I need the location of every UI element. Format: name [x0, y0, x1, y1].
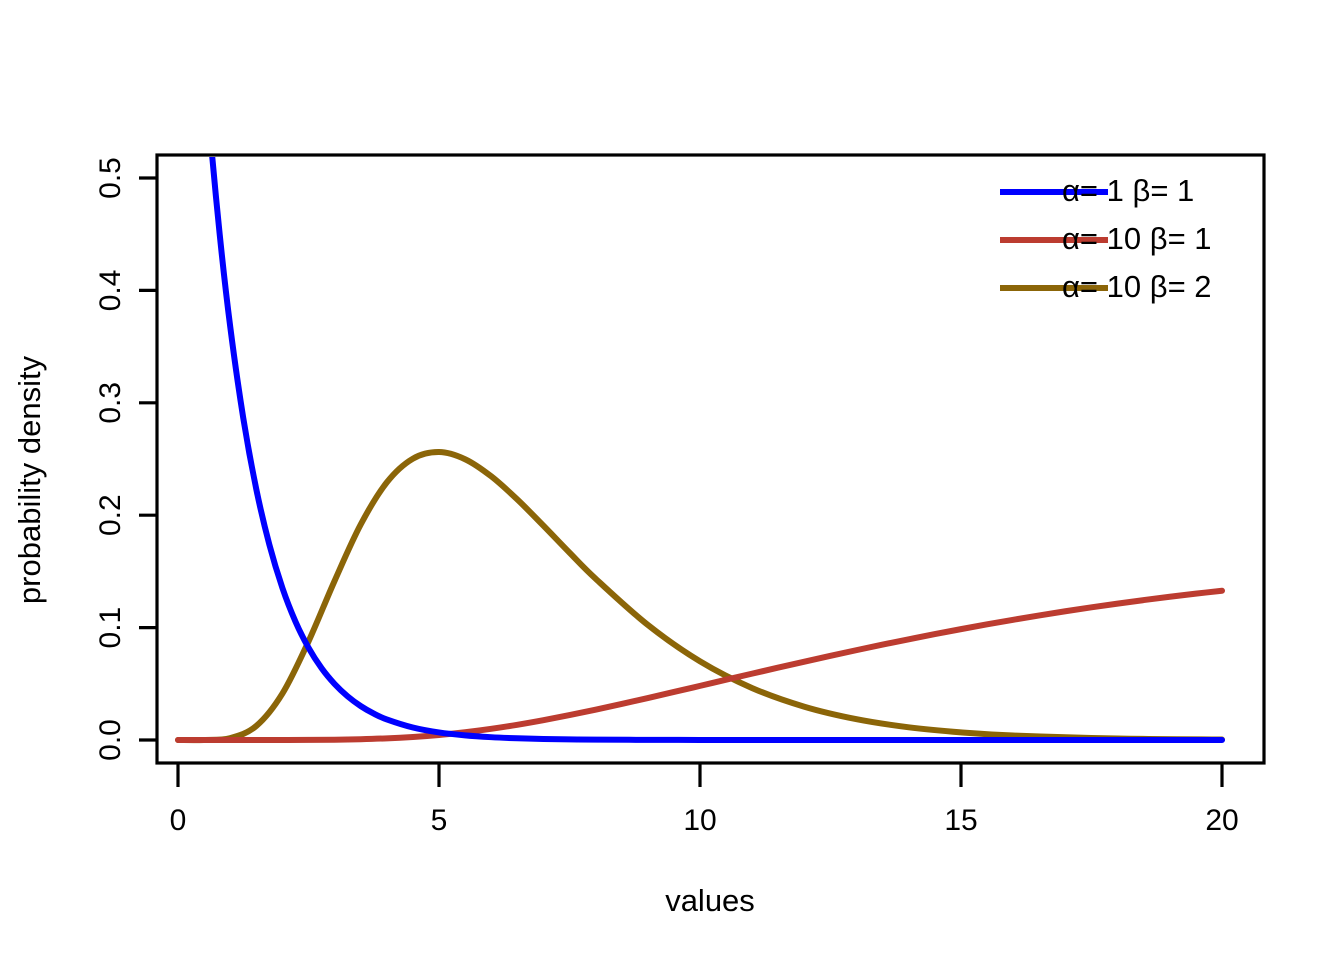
legend-label: α= 10 β= 2	[1062, 269, 1212, 304]
y-tick-label: 0.3	[94, 382, 127, 424]
x-tick-label: 15	[944, 804, 977, 837]
y-tick-label: 0.4	[94, 270, 127, 312]
y-tick-label: 0.2	[94, 494, 127, 536]
legend-label: α= 1 β= 1	[1062, 173, 1194, 208]
plot-canvas: 0.00.10.20.30.40.5 05101520 values proba…	[0, 0, 1344, 960]
x-tick-label: 5	[431, 804, 448, 837]
x-axis-title: values	[665, 883, 755, 918]
x-tick-label: 20	[1205, 804, 1238, 837]
y-tick-label: 0.0	[94, 719, 127, 761]
y-tick-label: 0.1	[94, 607, 127, 649]
figure-background	[0, 0, 1344, 960]
legend-label: α= 10 β= 1	[1062, 221, 1212, 256]
y-axis-title: probability density	[12, 355, 47, 604]
y-tick-label: 0.5	[94, 157, 127, 199]
x-tick-label: 0	[170, 804, 187, 837]
x-tick-label: 10	[683, 804, 716, 837]
plot-figure: 0.00.10.20.30.40.5 05101520 values proba…	[0, 0, 1344, 960]
